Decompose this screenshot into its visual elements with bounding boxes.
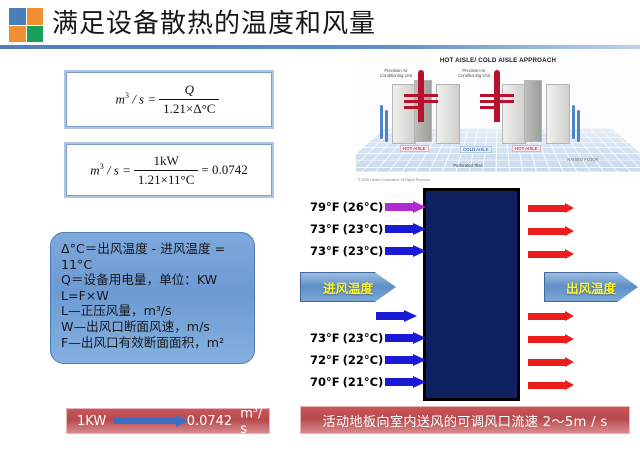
logo-square-3: [9, 26, 26, 43]
intake-arrow-5: [385, 332, 426, 344]
formula2-result: = 0.0742: [201, 162, 247, 178]
aisle-tag-hot-right: HOT AISLE: [512, 145, 541, 152]
intake-temp-c-2: (23°C): [343, 222, 384, 236]
intake-temp-f-1: 79°F: [310, 200, 340, 214]
exhaust-arrow-5: [528, 334, 576, 345]
server-rack: [436, 84, 460, 144]
ac-airflow-fin: [480, 100, 496, 103]
formula2-denominator: 1.21×11°C: [134, 170, 198, 188]
intake-row-3: 73°F (23°C): [310, 244, 426, 258]
definition-line-7: F—出风口有效断面面积，m²: [61, 335, 250, 351]
definition-line-4: L=F×W: [61, 288, 250, 304]
cold-air-jet: [572, 105, 575, 139]
formula-general: m3 / s = Q 1.21×Δ°C: [116, 82, 223, 117]
intake-arrow-1: [385, 201, 426, 213]
exhaust-arrow-2: [528, 226, 576, 237]
cold-air-jet: [385, 110, 388, 142]
ac-airflow-fin: [404, 94, 420, 97]
ac-airflow-fin: [498, 100, 514, 103]
conversion-bar: 1KW 0.0742 m3/ s: [66, 408, 270, 434]
definition-line-3: Q＝设备用电量，单位：KW: [61, 272, 250, 288]
exhaust-arrow-7: [528, 380, 576, 391]
intake-temp-f-5: 73°F: [310, 331, 340, 345]
intake-temp-c-7: (21°C): [343, 375, 384, 389]
ac-airflow-fin: [422, 100, 438, 103]
intake-arrow-4: [376, 310, 417, 322]
formula2-lhs-tail: / s =: [107, 162, 131, 177]
formula1-denominator: 1.21×Δ°C: [159, 99, 219, 117]
diagram-title: HOT AISLE/ COLD AISLE APPROACH: [356, 57, 640, 64]
page-title: 满足设备散热的温度和风量: [52, 3, 376, 40]
definition-line-5: L—正压风量，m³/s: [61, 303, 250, 319]
formula-box-example: m3 / s = 1kW 1.21×11°C = 0.0742: [66, 144, 272, 196]
exhaust-arrow-6: [528, 357, 576, 368]
conversion-value: 0.0742: [187, 414, 233, 429]
intake-temp-c-6: (22°C): [343, 353, 384, 367]
intake-arrow-7: [385, 376, 426, 388]
intake-arrow-2: [385, 223, 426, 235]
server-rack: [546, 84, 570, 144]
exhaust-arrow-4: [528, 311, 576, 322]
ac-airflow-fin: [480, 106, 496, 109]
floor-airflow-note: 活动地板向室内送风的可调风口流速 2～5m / s: [300, 406, 630, 434]
logo-square-4: [27, 26, 44, 43]
intake-row-2: 73°F (23°C): [310, 222, 426, 236]
intake-temp-f-6: 72°F: [310, 353, 340, 367]
formula1-lhs-sup: 3: [125, 91, 129, 100]
cold-air-jet: [577, 110, 580, 142]
intake-temp-f-2: 73°F: [310, 222, 340, 236]
definitions-box: Δ°C＝出风温度 - 进风温度 = 11°C Q＝设备用电量，单位：KW L=F…: [50, 232, 255, 364]
formula-example: m3 / s = 1kW 1.21×11°C = 0.0742: [90, 153, 247, 188]
server-rack: [502, 84, 526, 144]
formula2-numerator: 1kW: [149, 153, 182, 170]
slide-canvas: 满足设备散热的温度和风量 m3 / s = Q 1.21×Δ°C m3 / s …: [0, 0, 640, 455]
conversion-unit: m3/ s: [240, 405, 269, 436]
exhaust-arrow-3: [528, 249, 576, 260]
precision-ac-label: Precision Air Conditioning Unit: [374, 68, 418, 78]
raised-floor-label: RAISED FLOOR: [560, 157, 606, 162]
intake-temp-c-5: (23°C): [343, 331, 384, 345]
server-rack: [392, 84, 416, 144]
intake-row-7: 70°F (21°C): [310, 375, 426, 389]
server-rack: [524, 80, 542, 142]
conversion-unit-base: m: [240, 407, 253, 422]
intake-callout: 进风温度: [300, 272, 396, 302]
server-cabinet: [423, 188, 520, 401]
diagram-copyright: © 2009 Liebert Corporation. All Rights R…: [358, 178, 431, 182]
intake-arrow-6: [385, 354, 426, 366]
precision-ac-label: Precision Air Conditioning Unit: [452, 68, 496, 78]
aisle-tag-hot-left: HOT AISLE: [400, 145, 429, 152]
exhaust-callout: 出风温度: [544, 272, 638, 302]
ac-airflow-fin: [498, 94, 514, 97]
cold-air-jet: [380, 105, 383, 139]
perforated-tiles-label: Perforated Tiles: [438, 163, 498, 168]
intake-temp-f-7: 70°F: [310, 375, 340, 389]
intake-row-1: 79°F (26°C): [310, 200, 426, 214]
intake-temp-c-3: (23°C): [343, 244, 384, 258]
ac-airflow-fin: [404, 106, 420, 109]
logo-square-2: [27, 8, 44, 25]
ac-airflow-fin: [480, 94, 496, 97]
brand-logo-icon: [9, 8, 43, 42]
ac-airflow-fin: [422, 94, 438, 97]
definition-line-2: 11°C: [61, 257, 250, 273]
hot-cold-aisle-diagram: HOT AISLE/ COLD AISLE APPROACH Prec: [356, 50, 640, 184]
logo-square-1: [9, 8, 26, 25]
formula1-lhs-tail: / s =: [132, 92, 156, 107]
intake-temp-f-3: 73°F: [310, 244, 340, 258]
intake-row-4: [376, 310, 417, 322]
aisle-tag-cold: COLD AISLE: [460, 146, 492, 153]
formula-box-general: m3 / s = Q 1.21×Δ°C: [66, 72, 272, 127]
exhaust-arrow-1: [528, 203, 576, 214]
definition-line-1: Δ°C＝出风温度 - 进风温度 =: [61, 241, 250, 257]
intake-arrow-3: [385, 245, 426, 257]
intake-row-6: 72°F (22°C): [310, 353, 426, 367]
formula1-numerator: Q: [181, 82, 198, 99]
ac-airflow-fin: [404, 100, 420, 103]
conversion-power-label: 1KW: [77, 414, 106, 429]
definition-line-6: W—出风口断面风速，m/s: [61, 319, 250, 335]
conversion-arrow-icon: [114, 415, 179, 427]
formula2-lhs-sup: 3: [100, 162, 104, 171]
formula1-lhs: m: [116, 92, 125, 107]
intake-temp-c-1: (26°C): [343, 200, 384, 214]
intake-row-5: 73°F (23°C): [310, 331, 426, 345]
formula2-lhs: m: [90, 162, 99, 177]
